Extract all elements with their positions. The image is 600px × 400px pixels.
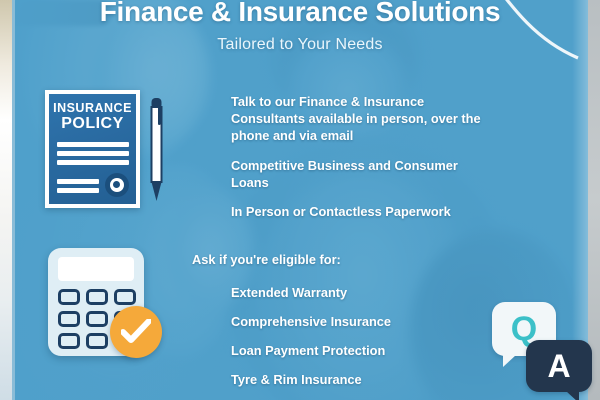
calculator-key [114,289,136,305]
body-paragraph: Talk to our Finance & Insurance Consulta… [231,94,481,145]
left-edge-strip [0,0,12,400]
qa-bubbles: Q A [492,300,596,396]
check-badge-icon [110,306,162,358]
body-paragraph: Competitive Business and Consumer Loans [231,158,481,192]
seal-dot [113,181,120,188]
list-item: Loan Payment Protection [231,343,391,358]
calculator-key [86,289,108,305]
calculator-key [58,311,80,327]
body-paragraph: In Person or Contactless Paperwork [231,204,481,221]
policy-seal-icon [105,173,129,197]
insurance-policy-document-icon: INSURANCE POLICY [45,90,140,208]
eligibility-heading: Ask if you're eligible for: [192,252,341,267]
policy-signature-lines [57,179,100,197]
policy-line-1: INSURANCE [53,102,132,115]
policy-line-2: POLICY [61,116,124,133]
list-item: Comprehensive Insurance [231,314,391,329]
left-edge-line [12,0,15,400]
list-item: Extended Warranty [231,285,391,300]
finance-insurance-banner: Finance & Insurance Solutions Tailored t… [0,0,600,400]
page-title: Finance & Insurance Solutions [0,0,600,28]
policy-document-body: INSURANCE POLICY [49,94,136,204]
checkmark-icon [121,319,151,345]
list-item: Tyre & Rim Insurance [231,372,391,387]
policy-text-lines [57,142,129,169]
calculator-key [58,289,80,305]
policy-text-line [57,160,129,165]
policy-text-line [57,188,99,193]
policy-text-line [57,179,99,184]
calculator-key [86,311,108,327]
seal-ring [110,178,124,192]
pen-icon [150,95,163,203]
calculator-screen [58,257,134,281]
calculator-icon [48,248,144,356]
policy-text-line [57,151,129,156]
eligibility-list: Extended Warranty Comprehensive Insuranc… [231,285,391,400]
calculator-key [86,333,108,349]
policy-signature-row [57,173,129,197]
page-subtitle: Tailored to Your Needs [0,36,600,54]
policy-text-line [57,142,129,147]
body-copy-block: Talk to our Finance & Insurance Consulta… [231,94,481,234]
answer-speech-bubble: A [526,340,592,392]
calculator-key [58,333,80,349]
